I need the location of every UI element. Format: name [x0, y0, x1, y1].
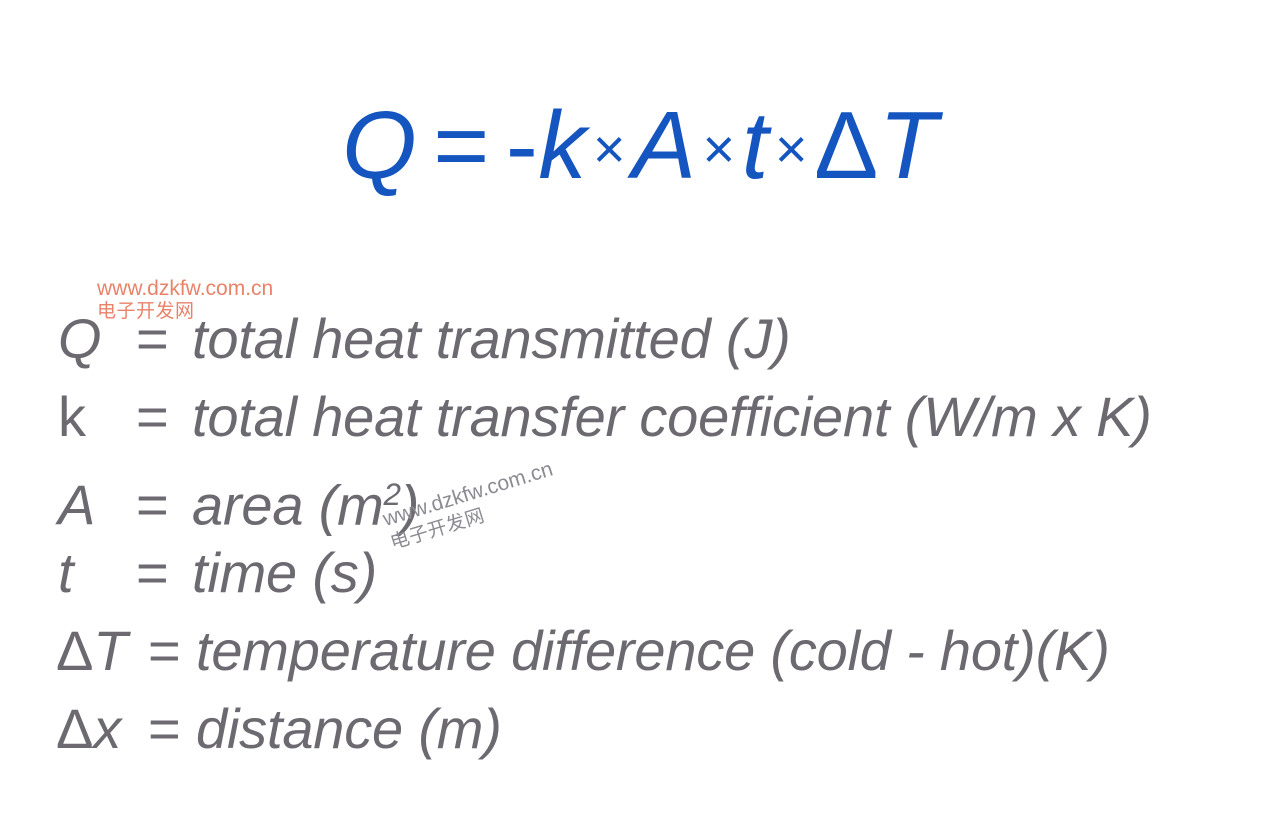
main-formula: Q=-k×A×t×ΔT — [0, 98, 1280, 194]
multiplication-icon: × — [587, 117, 632, 180]
definition-symbol-x: x — [93, 697, 121, 760]
definition-text-k: total heat transfer coefficient (W/m x K… — [192, 378, 1152, 456]
definition-text-a-main: area (m — [192, 473, 384, 536]
formula-symbol-a: A — [632, 92, 697, 199]
definition-row-a: A = area (m2) — [58, 456, 1273, 534]
definition-row-q: Q = total heat transmitted (J) — [58, 300, 1273, 378]
multiplication-icon: × — [769, 117, 814, 180]
definition-text-a-tail: ) — [401, 473, 419, 536]
definition-list: Q = total heat transmitted (J) k = total… — [58, 300, 1273, 768]
definition-symbol-a: A — [58, 466, 136, 544]
superscript-two: 2 — [384, 477, 401, 512]
definition-symbol-k: k — [58, 378, 136, 456]
page-root: Q=-k×A×t×ΔT Q = total heat transmitted (… — [0, 0, 1280, 815]
definition-text-delta-t: temperature difference (cold - hot)(K) — [196, 612, 1110, 690]
definition-equals: = — [148, 690, 196, 768]
formula-symbol-q: Q — [342, 92, 417, 199]
formula-symbol-capital-t: T — [879, 92, 938, 199]
formula-symbol-k: k — [538, 92, 587, 199]
definition-symbol-q: Q — [58, 300, 136, 378]
definition-text-t: time (s) — [192, 534, 377, 612]
formula-equals: = — [433, 92, 490, 199]
watermark-url: www.dzkfw.com.cn — [97, 277, 273, 300]
formula-symbol-t: t — [742, 92, 769, 199]
definition-equals: = — [148, 612, 196, 690]
definition-text-q: total heat transmitted (J) — [192, 300, 791, 378]
definition-equals: = — [136, 466, 192, 544]
definition-text-a: area (m2) — [192, 456, 419, 544]
definition-symbol-delta-x: Δx — [56, 690, 148, 768]
definition-row-delta-t: ΔT = temperature difference (cold - hot)… — [58, 612, 1273, 690]
definition-row-delta-x: Δx = distance (m) — [58, 690, 1273, 768]
definition-symbol-t: t — [58, 534, 136, 612]
formula-minus-sign: - — [506, 92, 538, 199]
formula-delta-icon: Δ — [814, 92, 879, 199]
delta-icon: Δ — [56, 619, 93, 682]
delta-icon: Δ — [56, 697, 93, 760]
multiplication-icon: × — [697, 117, 742, 180]
definition-text-delta-x: distance (m) — [196, 690, 502, 768]
definition-row-k: k = total heat transfer coefficient (W/m… — [58, 378, 1273, 456]
definition-symbol-capital-t: T — [93, 619, 127, 682]
definition-symbol-delta-t: ΔT — [56, 612, 148, 690]
definition-equals: = — [136, 378, 192, 456]
definition-row-t: t = time (s) — [58, 534, 1273, 612]
definition-equals: = — [136, 300, 192, 378]
definition-equals: = — [136, 534, 192, 612]
